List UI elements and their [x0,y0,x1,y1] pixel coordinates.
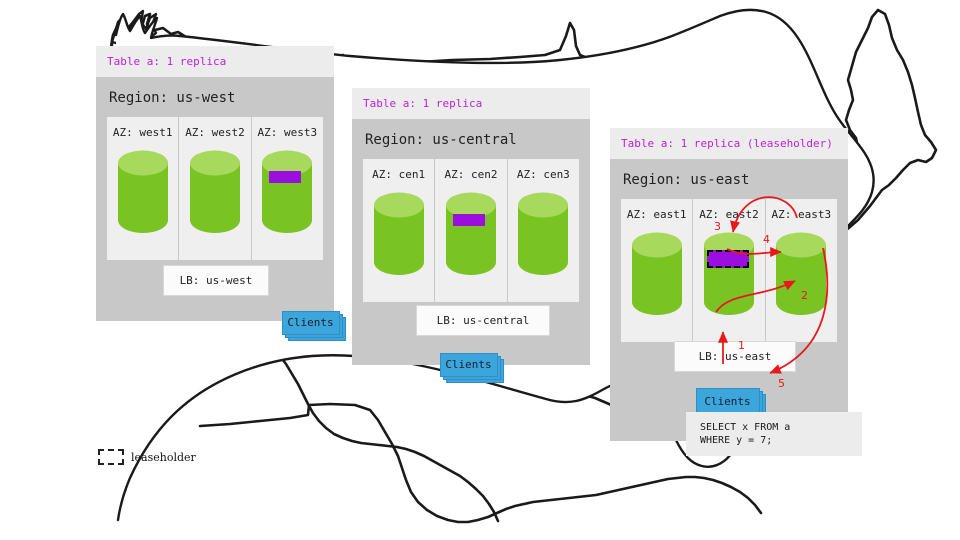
region-panel-us-west: Table a: 1 replica Region: us-west AZ: w… [96,46,334,321]
replica-chip-cen2 [453,214,485,226]
replica-chip-west3 [269,171,301,183]
az-cell-east3[interactable]: AZ: east3 [766,199,837,342]
sql-query-caption: SELECT x FROM a WHERE y = 7; [686,412,862,456]
leaseholder-chip-east2 [707,250,749,268]
az-label-west1: AZ: west1 [113,117,173,138]
az-cell-west2[interactable]: AZ: west2 [179,117,251,260]
step-number-5: 5 [778,378,785,389]
az-label-west3: AZ: west3 [258,117,318,138]
step-number-3: 3 [714,221,721,232]
az-label-cen3: AZ: cen3 [517,159,570,180]
step-number-4: 4 [763,234,770,245]
region-title-us-central: Region: us-central [352,119,590,159]
step-number-2: 2 [801,290,808,301]
az-cell-cen3[interactable]: AZ: cen3 [508,159,579,302]
az-cell-cen1[interactable]: AZ: cen1 [363,159,435,302]
replica-cylinder-cen1 [373,192,425,279]
clients-label-us-west: Clients [282,311,339,334]
table-replica-header-us-east: Table a: 1 replica (leaseholder) [610,128,848,159]
clients-label-us-east: Clients [696,388,759,415]
replica-cylinder-east1 [631,232,683,319]
load-balancer-us-east[interactable]: LB: us-east [674,341,796,372]
clients-button-us-west[interactable]: Clients [282,311,346,337]
table-replica-header-us-central: Table a: 1 replica [352,88,590,119]
az-label-east3: AZ: east3 [772,199,832,220]
az-label-cen2: AZ: cen2 [445,159,498,180]
region-title-us-west: Region: us-west [96,77,334,117]
az-label-west2: AZ: west2 [185,117,245,138]
az-label-cen1: AZ: cen1 [372,159,425,180]
az-cell-west1[interactable]: AZ: west1 [107,117,179,260]
replica-cylinder-west2 [189,150,241,237]
diagram-canvas: Table a: 1 replica Region: us-west AZ: w… [0,0,960,540]
replica-cylinder-east3 [775,232,827,319]
region-panel-us-east: Table a: 1 replica (leaseholder) Region:… [610,128,848,441]
replica-cylinder-west3 [261,150,313,237]
replica-cylinder-cen2 [445,192,497,279]
replica-cylinder-east2 [703,232,755,319]
az-cell-east2[interactable]: AZ: east2 [693,199,765,342]
clients-button-us-central[interactable]: Clients [440,353,504,379]
step-number-1: 1 [738,340,745,351]
replica-cylinder-cen3 [517,192,569,279]
table-replica-header-us-west: Table a: 1 replica [96,46,334,77]
load-balancer-us-central[interactable]: LB: us-central [416,305,550,336]
clients-label-us-central: Clients [440,353,497,376]
legend-label-leaseholder: leaseholder [131,451,196,464]
load-balancer-us-west[interactable]: LB: us-west [163,265,269,296]
region-title-us-east: Region: us-east [610,159,848,199]
legend: leaseholder [98,449,196,465]
az-cell-cen2[interactable]: AZ: cen2 [435,159,507,302]
az-label-east1: AZ: east1 [627,199,687,220]
region-panel-us-central: Table a: 1 replica Region: us-central AZ… [352,88,590,365]
leaseholder-swatch-icon [98,449,124,465]
az-cell-west3[interactable]: AZ: west3 [252,117,323,260]
az-label-east2: AZ: east2 [699,199,759,220]
az-cell-east1[interactable]: AZ: east1 [621,199,693,342]
replica-cylinder-west1 [117,150,169,237]
